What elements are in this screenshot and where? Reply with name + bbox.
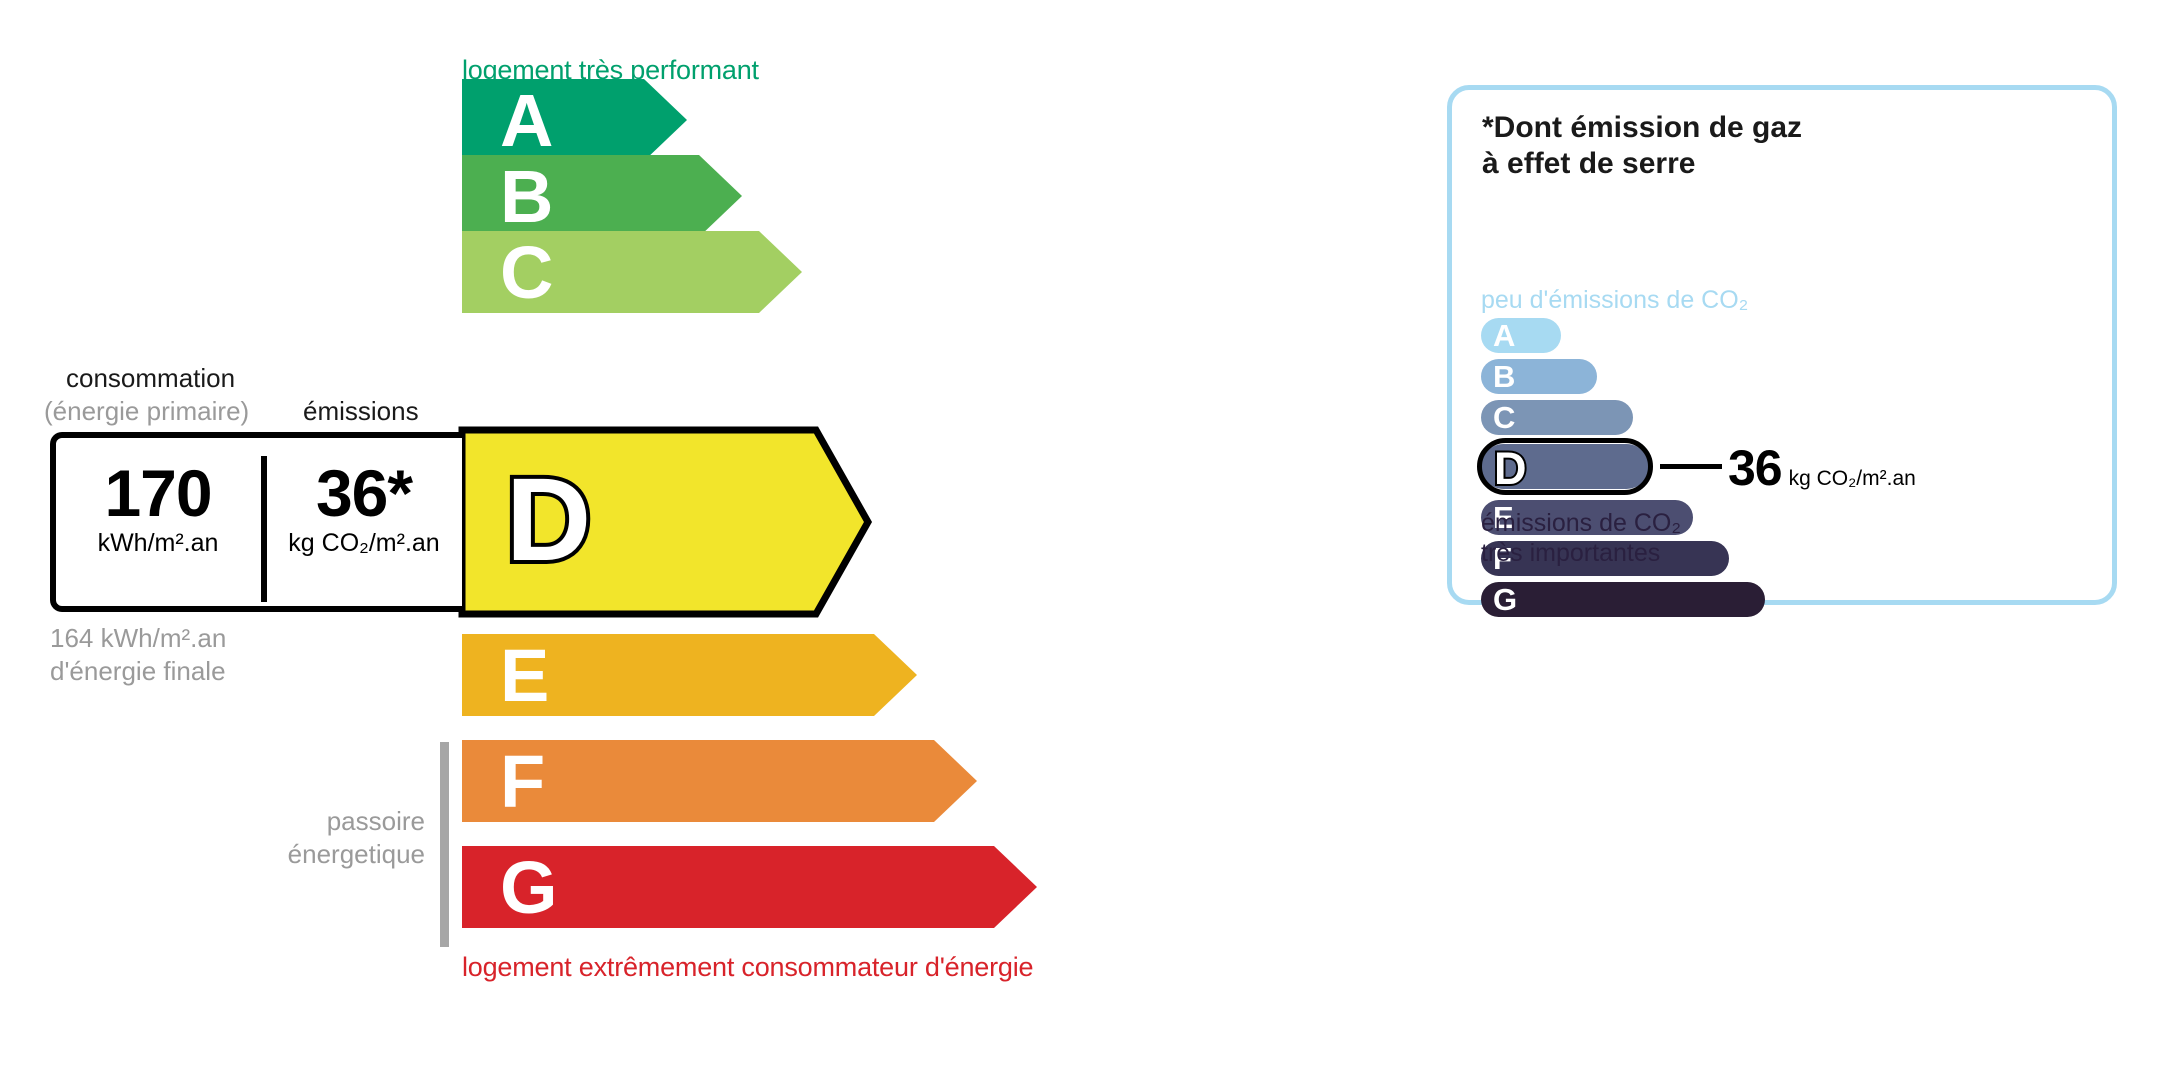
- co2-callout-unit: kg CO₂/m².an: [1789, 467, 1916, 490]
- energy-band-c-letter: C: [500, 236, 552, 310]
- co2-bar-c: C: [1481, 400, 1633, 435]
- co2-bar-a: A: [1481, 318, 1561, 353]
- co2-leader-line: [1660, 464, 1722, 469]
- co2-callout-value: 36: [1728, 440, 1782, 496]
- emission-value: 36*: [264, 460, 464, 526]
- co2-top-caption: peu d'émissions de CO₂: [1481, 286, 1748, 315]
- emission-unit: kg CO₂/m².an: [264, 530, 464, 558]
- energy-label-panel: logement très performant A B C D E: [0, 0, 1400, 1079]
- energy-band-f-letter: F: [500, 745, 544, 819]
- co2-panel-title: *Dont émission de gaz à effet de serre: [1482, 110, 1802, 182]
- consommation-label: consommation: [66, 363, 235, 394]
- co2-bar-g: G: [1481, 582, 1765, 617]
- consumption-value: 170: [58, 460, 258, 526]
- co2-bar-d-letter: D: [1494, 446, 1527, 491]
- co2-bar-g-letter: G: [1493, 583, 1517, 614]
- energy-band-b-letter: B: [500, 160, 552, 234]
- emissions-label: émissions: [303, 396, 419, 427]
- passoire-bracket: [440, 742, 449, 947]
- energy-bottom-caption: logement extrêmement consommateur d'éner…: [462, 952, 1033, 983]
- energie-primaire-label: (énergie primaire): [44, 396, 249, 427]
- passoire-label: passoire énergetique: [120, 805, 425, 870]
- co2-panel: *Dont émission de gaz à effet de serre p…: [1447, 85, 2117, 605]
- co2-bar-c-letter: C: [1493, 401, 1515, 432]
- energy-band-e-letter: E: [500, 639, 548, 713]
- energy-band-a-letter: A: [500, 84, 552, 158]
- co2-bar-b: B: [1481, 359, 1597, 394]
- value-box: 170 kWh/m².an 36* kg CO₂/m².an: [50, 432, 462, 612]
- energy-band-g-letter: G: [500, 851, 557, 925]
- co2-callout: 36kg CO₂/m².an: [1728, 439, 1916, 497]
- consumption-unit: kWh/m².an: [58, 530, 258, 558]
- consumption-value-cell: 170 kWh/m².an: [58, 460, 258, 558]
- emission-value-cell: 36* kg CO₂/m².an: [264, 460, 464, 558]
- co2-bar-b-letter: B: [1493, 360, 1515, 391]
- final-energy-label: 164 kWh/m².an d'énergie finale: [50, 622, 226, 687]
- co2-bar-a-letter: A: [1493, 319, 1515, 350]
- svg-text:D: D: [506, 454, 591, 586]
- co2-bottom-caption: émissions de CO₂ très importantes: [1481, 508, 1681, 568]
